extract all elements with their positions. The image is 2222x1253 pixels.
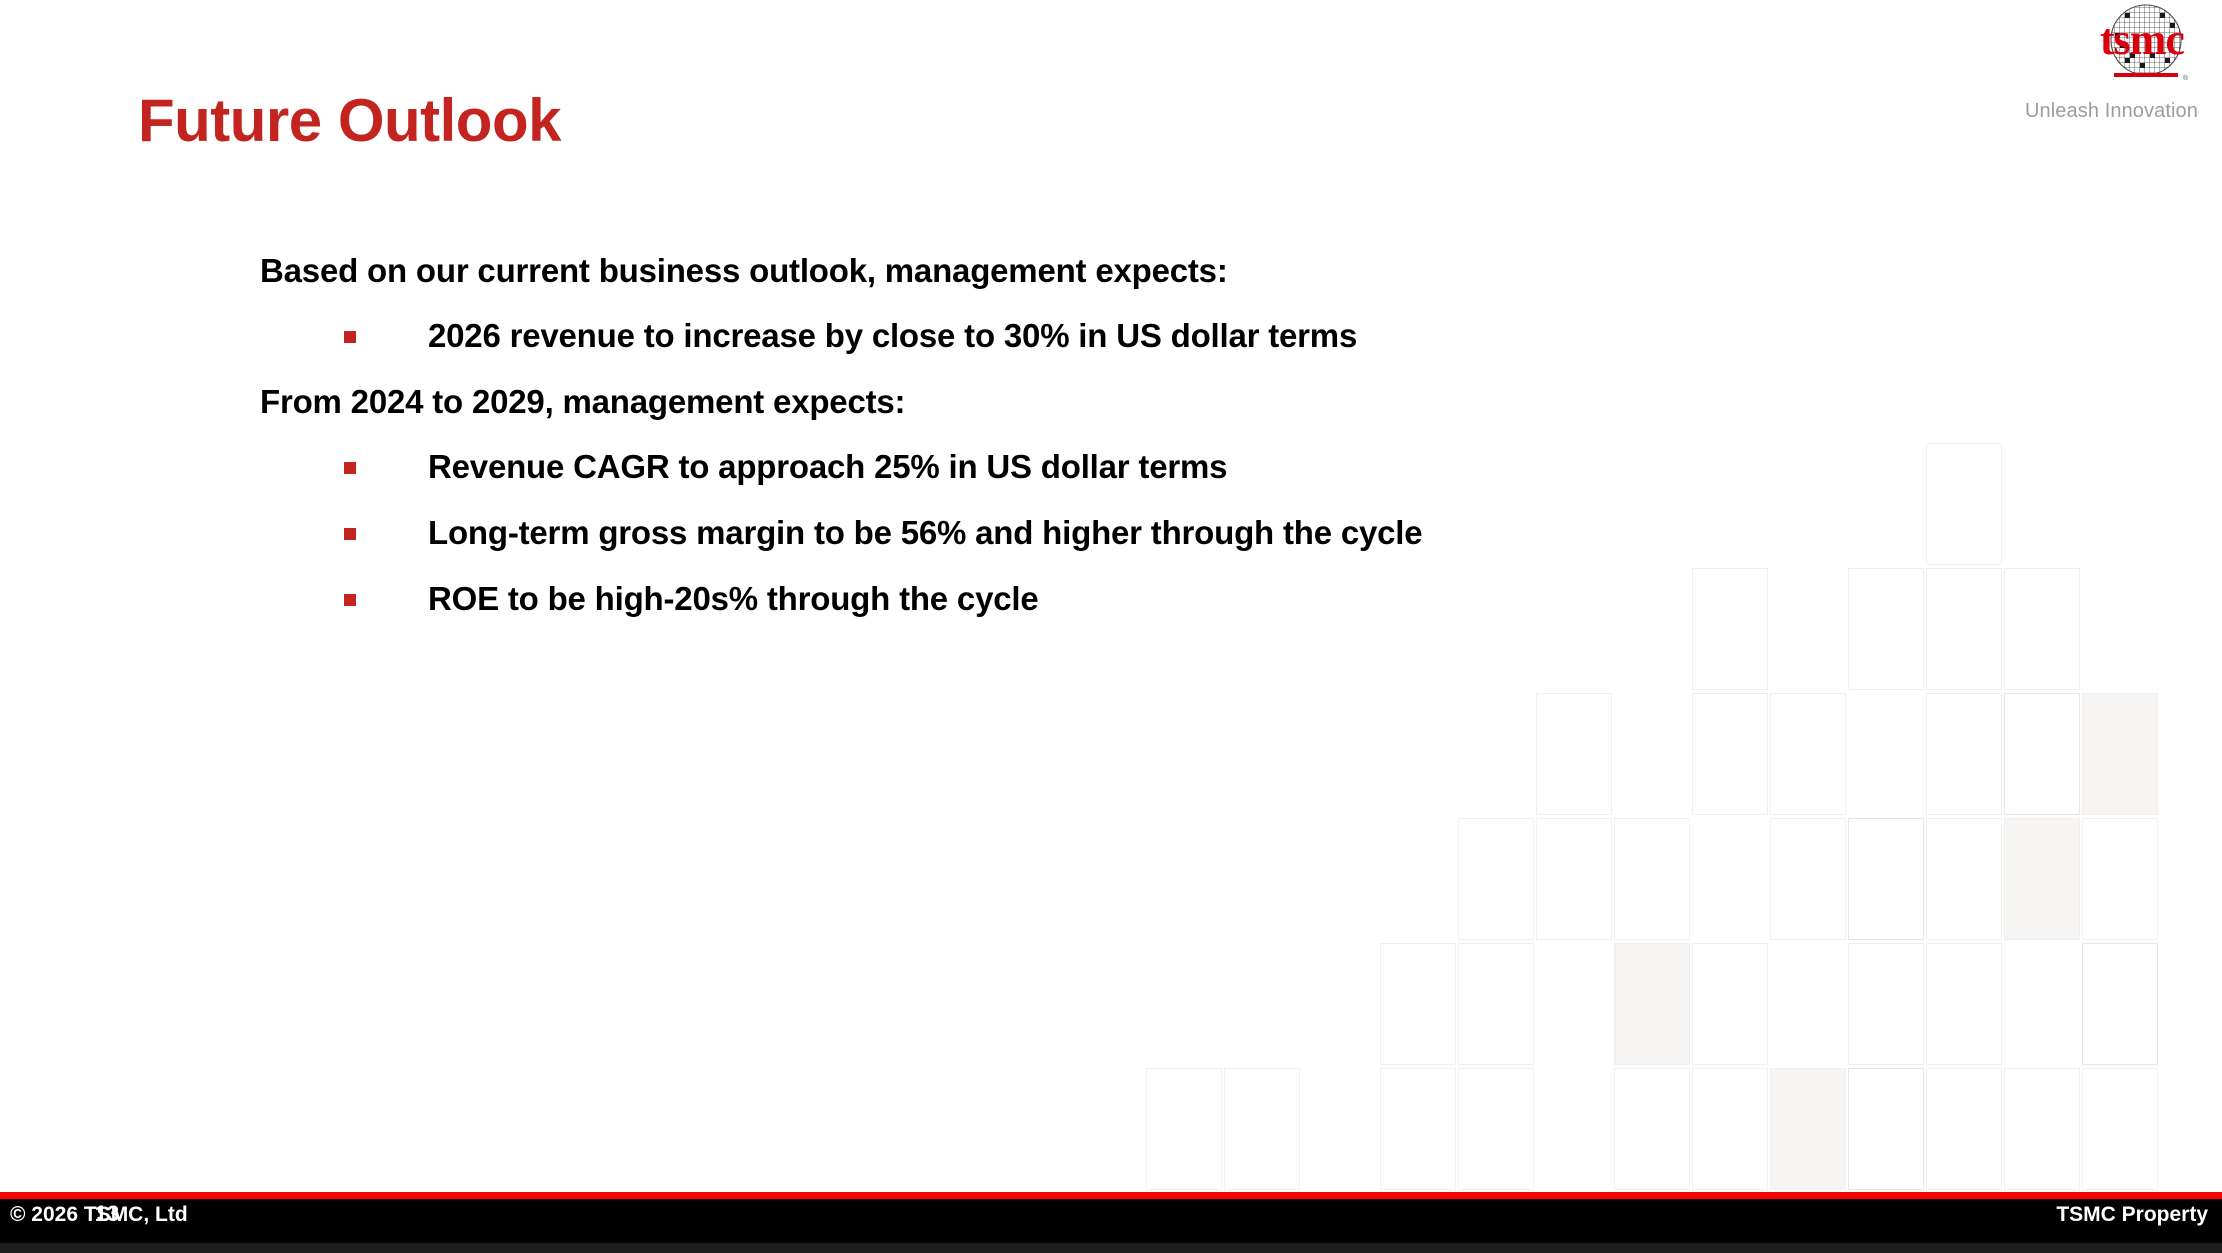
page-title: Future Outlook [138,86,561,155]
bullet-square-icon [344,462,356,474]
slide-body: Based on our current business outlook, m… [0,0,2222,1195]
tsmc-logo-block: tsmc ® Unleash Innovation [2010,2,2210,128]
footer-base-strip [0,1243,2222,1253]
list-item-label: ROE to be high-20s% through the cycle [428,580,1039,618]
footer-page-number: 13 [0,1201,2222,1227]
lead-paragraph-1: Based on our current business outlook, m… [260,252,1228,290]
footer-accent-rule [0,1192,2222,1199]
logo-tagline: Unleash Innovation [2025,100,2198,123]
svg-text:®: ® [2183,74,2189,82]
page-number-value: 13 [95,1201,119,1226]
bullet-square-icon [344,528,356,540]
lead-paragraph-2: From 2024 to 2029, management expects: [260,383,905,421]
list-item-label: 2026 revenue to increase by close to 30%… [428,317,1357,355]
list-item-label: Revenue CAGR to approach 25% in US dolla… [428,448,1227,486]
slide-footer: © 2026 TSMC, Ltd 13 TSMC Property [0,1192,2222,1253]
bullet-square-icon [344,331,356,343]
svg-text:tsmc: tsmc [2100,15,2184,64]
bullet-square-icon [344,594,356,606]
tsmc-wafer-logo-icon: tsmc ® [2084,2,2196,94]
list-item-label: Long-term gross margin to be 56% and hig… [428,514,1422,552]
footer-property-label: TSMC Property [2056,1203,2208,1227]
presentation-slide: tsmc ® Unleash Innovation Future Outlook… [0,0,2222,1253]
